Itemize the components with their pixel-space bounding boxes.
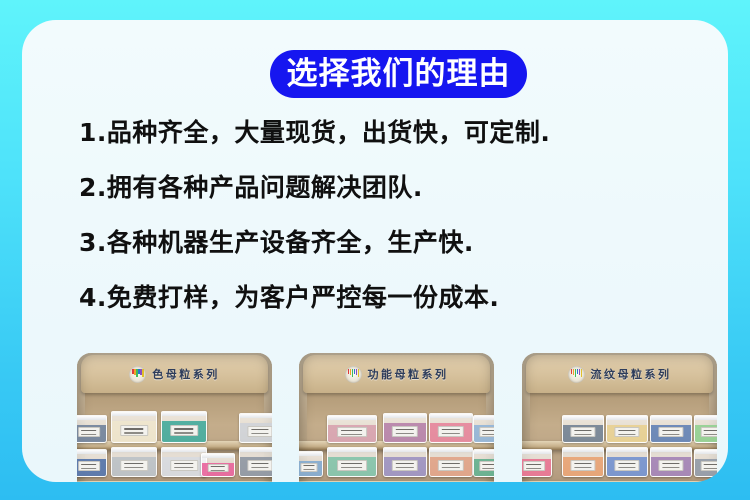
product-photo-row: 色母粒系列 功能母粒系列 xyxy=(77,353,717,482)
pellet-container xyxy=(327,415,377,443)
pellet-container xyxy=(327,447,377,477)
pellet-container xyxy=(111,411,157,443)
pellet-container xyxy=(522,449,552,477)
pellet-container xyxy=(201,453,235,477)
pellet-container xyxy=(650,447,692,477)
brand-logo-icon xyxy=(129,366,146,383)
pellet-container xyxy=(239,413,272,443)
shelf-board xyxy=(299,481,494,482)
pellet-container xyxy=(694,449,717,477)
shelf-board xyxy=(77,481,272,482)
shelf-scene: 功能母粒系列 xyxy=(299,353,494,482)
list-item: 4.免费打样，为客户严控每一份成本. xyxy=(79,285,699,310)
brand-logo-icon xyxy=(345,366,362,383)
shelf-board xyxy=(522,481,717,482)
title-badge: 选择我们的理由 xyxy=(270,50,527,98)
pellet-container xyxy=(429,413,473,443)
list-item: 1.品种齐全，大量现货，出货快，可定制. xyxy=(79,120,699,145)
pellet-container xyxy=(77,415,107,443)
shelf-scene: 色母粒系列 xyxy=(77,353,272,482)
shelf-sign: 功能母粒系列 xyxy=(303,355,490,393)
list-item: 3.各种机器生产设备齐全，生产快. xyxy=(79,230,699,255)
pellet-container xyxy=(606,415,648,443)
shelf-sign-label: 流纹母粒系列 xyxy=(591,366,672,382)
reasons-list: 1.品种齐全，大量现货，出货快，可定制. 2.拥有各种产品问题解决团队. 3.各… xyxy=(79,120,699,340)
pellet-container xyxy=(383,413,427,443)
pellet-container xyxy=(606,447,648,477)
shelf-sign: 流纹母粒系列 xyxy=(526,355,713,393)
pellet-container xyxy=(161,411,207,443)
pellet-container xyxy=(650,415,692,443)
product-photo-functional-masterbatch: 功能母粒系列 xyxy=(299,353,494,482)
list-item: 2.拥有各种产品问题解决团队. xyxy=(79,175,699,200)
brand-logo-icon xyxy=(568,366,585,383)
pellet-container xyxy=(562,415,604,443)
content-panel: 选择我们的理由 1.品种齐全，大量现货，出货快，可定制. 2.拥有各种产品问题解… xyxy=(22,20,728,482)
product-photo-color-masterbatch: 色母粒系列 xyxy=(77,353,272,482)
pellet-container xyxy=(299,451,323,477)
pellet-container xyxy=(383,447,427,477)
pellet-container xyxy=(473,449,494,477)
shelf-sign-label: 色母粒系列 xyxy=(152,366,220,382)
shelf-scene: 流纹母粒系列 xyxy=(522,353,717,482)
pellet-container xyxy=(562,447,604,477)
shelf-sign-label: 功能母粒系列 xyxy=(368,366,449,382)
pellet-container xyxy=(429,447,473,477)
page-title: 选择我们的理由 xyxy=(287,59,511,90)
pellet-container xyxy=(694,415,717,443)
banner-frame: 选择我们的理由 1.品种齐全，大量现货，出货快，可定制. 2.拥有各种产品问题解… xyxy=(0,0,750,500)
pellet-container xyxy=(111,447,157,477)
pellet-container xyxy=(77,449,107,477)
product-photo-flow-pattern-masterbatch: 流纹母粒系列 xyxy=(522,353,717,482)
pellet-container xyxy=(239,447,272,477)
pellet-container xyxy=(473,415,494,443)
shelf-sign: 色母粒系列 xyxy=(81,355,268,393)
